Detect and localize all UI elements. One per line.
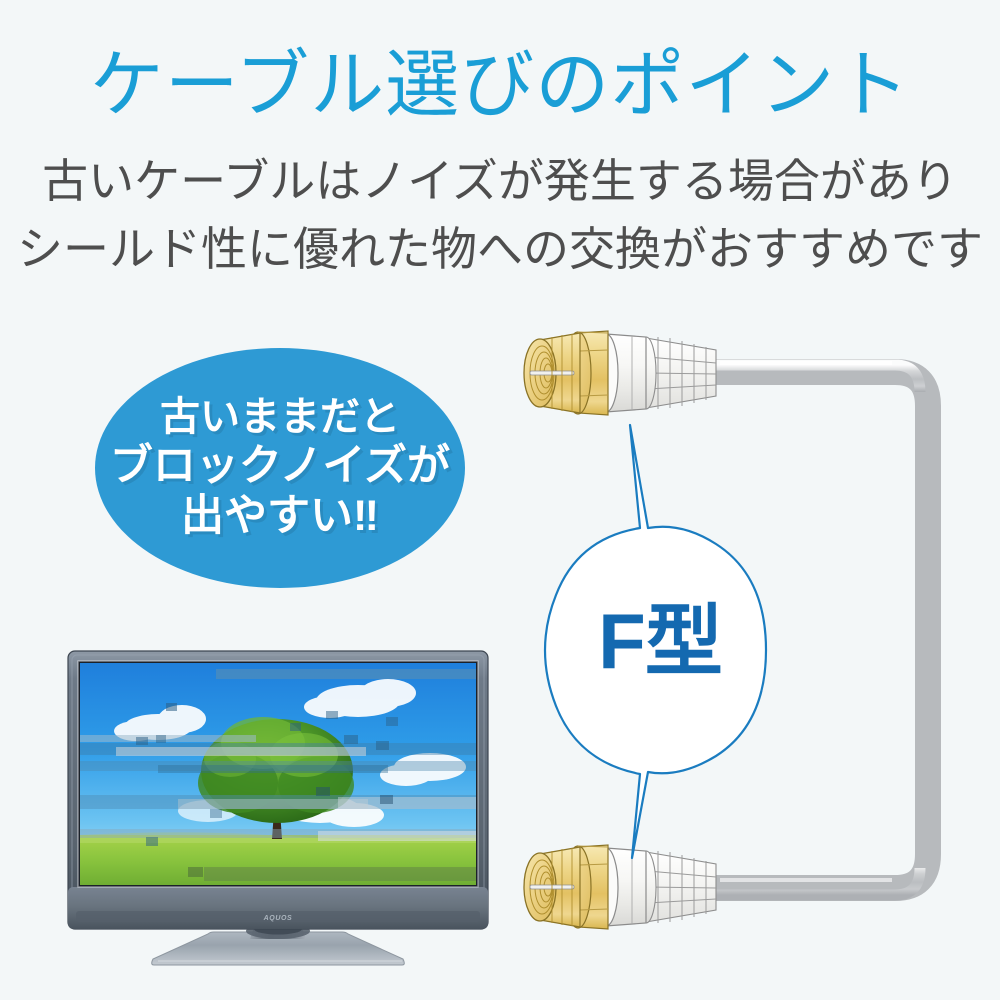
subtitle-line-2: シールド性に優れた物への交換がおすすめです [0,226,1000,272]
poster-canvas: ケーブル選びのポイント 古いケーブルはノイズが発生する場合があり シールド性に優… [0,0,1000,1000]
strain-relief-top [636,337,716,409]
tv-screen [80,663,476,885]
ftype-callout: F型 [520,410,800,870]
warning-line-1: 古いままだと [160,395,400,440]
tv-brand-logo: AQUOS [58,915,498,922]
warning-callout-text: 古いままだと ブロックノイズが 出やすい‼ [95,348,465,588]
television: AQUOS [58,643,498,973]
page-title: ケーブル選びのポイント [0,48,1000,122]
warning-callout-bubble: 古いままだと ブロックノイズが 出やすい‼ [95,348,465,588]
subtitle-line-1: 古いケーブルはノイズが発生する場合があり [0,158,1000,204]
f-type-connector-top [524,331,716,415]
ftype-label: F型 [520,602,800,680]
warning-line-3: 出やすい‼ [181,492,379,540]
warning-line-2: ブロックノイズが [110,442,450,490]
connector-threads-top [524,333,580,413]
